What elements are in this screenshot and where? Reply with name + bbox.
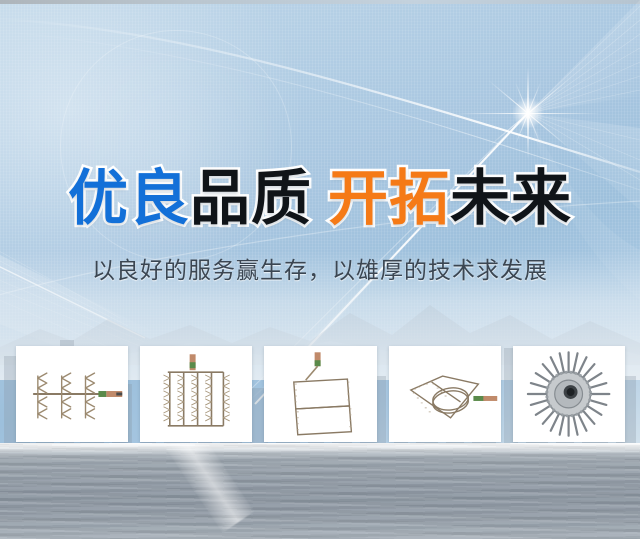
product-card-2[interactable] bbox=[140, 346, 252, 442]
ground-surface bbox=[0, 443, 640, 539]
headline-segment-4: 未来 bbox=[450, 164, 572, 234]
ring-plate-fixture-icon bbox=[389, 346, 501, 442]
promotional-banner: 优良品质开拓未来 以良好的服务赢生存，以雄厚的技术求发展 bbox=[0, 0, 640, 539]
multi-row-spike-rack-icon bbox=[140, 346, 252, 442]
product-thumbnail-strip bbox=[16, 346, 625, 442]
radial-starburst-wheel-icon bbox=[513, 346, 625, 442]
flat-ladder-frame-icon bbox=[264, 346, 376, 442]
page-title: 优良品质开拓未来 bbox=[0, 166, 640, 232]
product-card-1[interactable] bbox=[16, 346, 128, 442]
headline-segment-3: 开拓 bbox=[328, 164, 450, 234]
product-card-5[interactable] bbox=[513, 346, 625, 442]
product-card-4[interactable] bbox=[389, 346, 501, 442]
subtitle: 以良好的服务赢生存，以雄厚的技术求发展 bbox=[0, 256, 640, 286]
ground-texture bbox=[0, 443, 640, 539]
branched-hanging-rack-icon bbox=[16, 346, 128, 442]
headline-segment-1: 优良 bbox=[68, 164, 190, 234]
product-card-3[interactable] bbox=[264, 346, 376, 442]
headline-segment-2: 品质 bbox=[190, 164, 312, 234]
